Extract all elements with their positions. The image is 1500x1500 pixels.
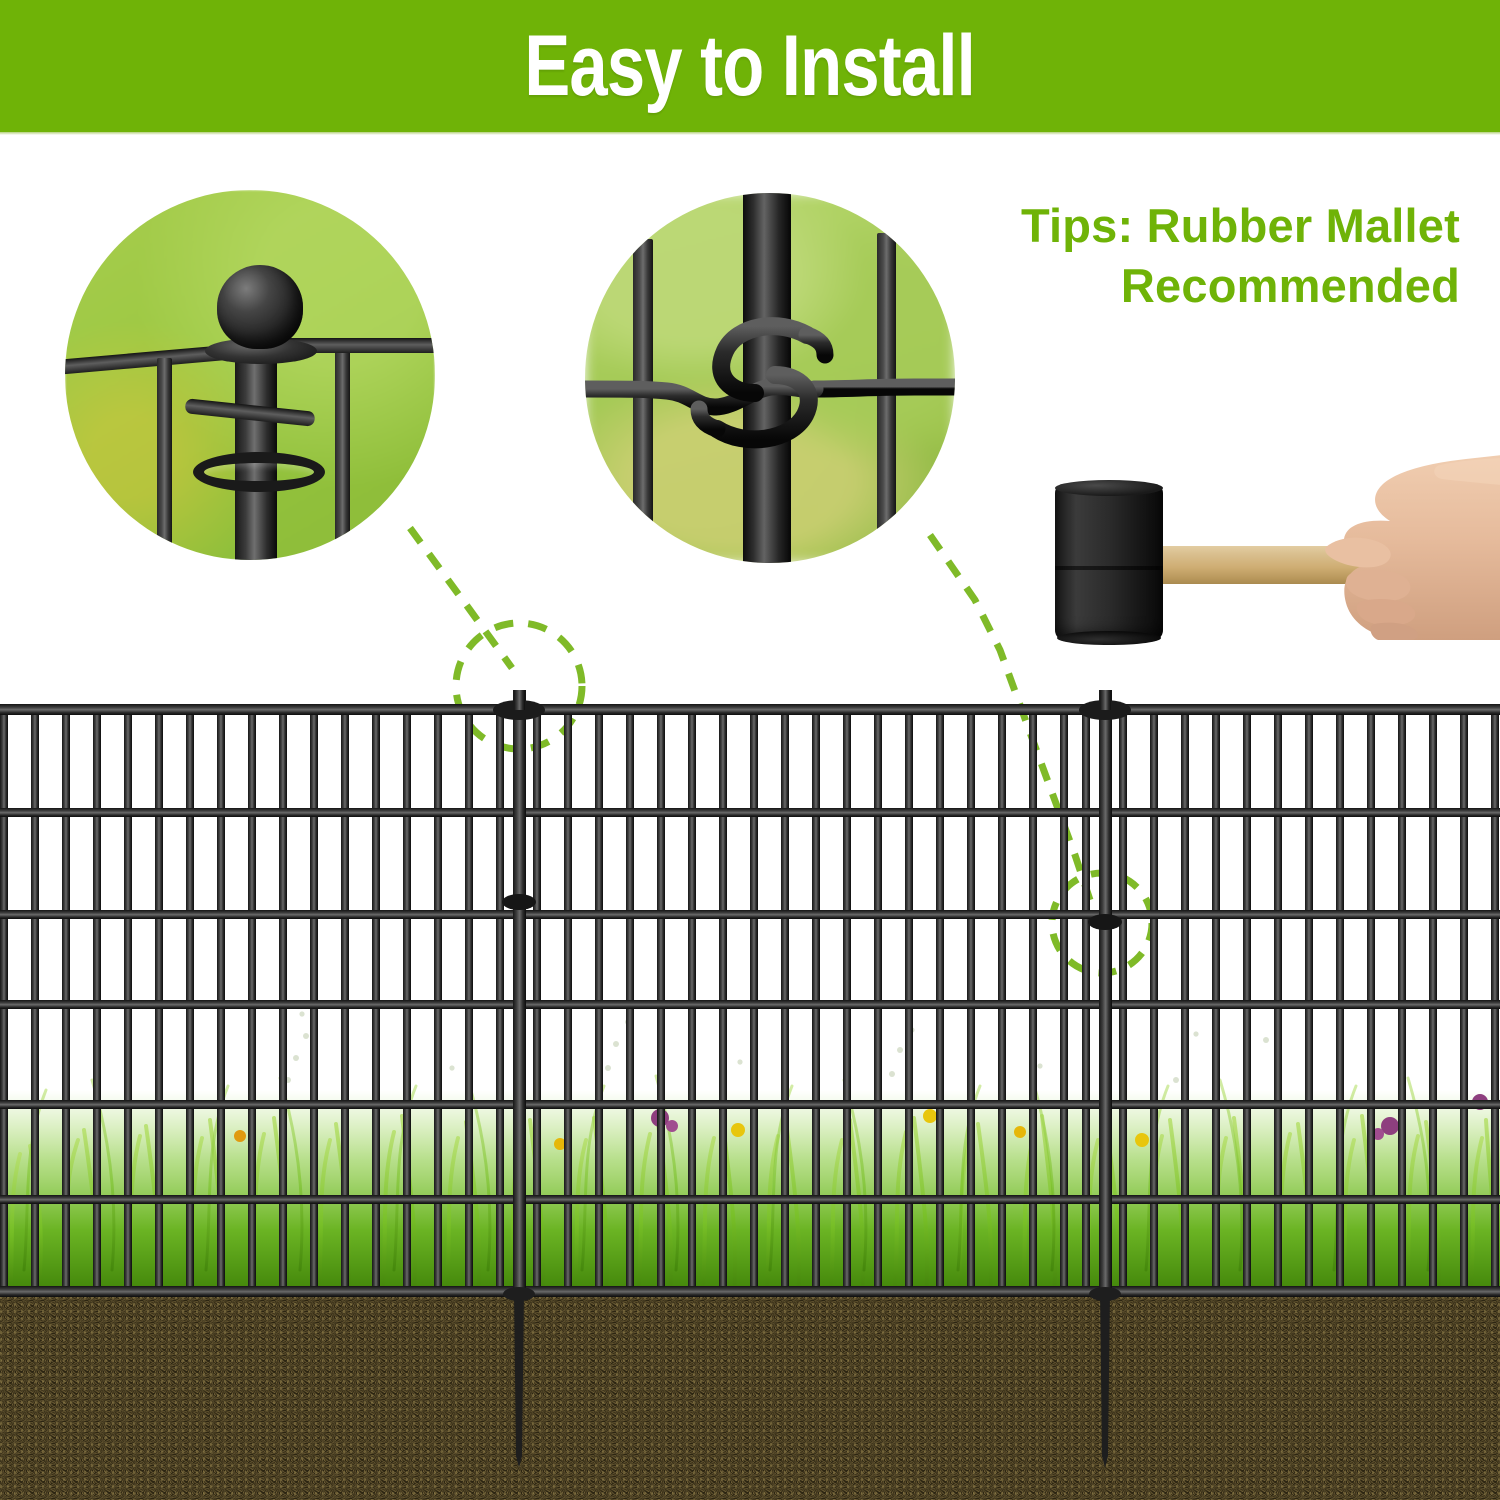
- mallet-head-top-face: [1055, 480, 1163, 496]
- ground-stakes: [0, 1286, 1500, 1500]
- banner-bottom-edge: [0, 132, 1500, 135]
- ball-finial-icon: [217, 265, 303, 349]
- hand-icon: [1290, 455, 1500, 640]
- callout-circle-interlock-hook: [585, 193, 955, 563]
- header-banner: Easy to Install: [0, 0, 1500, 132]
- mallet-head: [1055, 484, 1163, 641]
- mallet-head-bottom-face: [1057, 631, 1161, 645]
- finial-ring-clamp: [193, 452, 325, 492]
- finial-vertical-bar-right: [335, 340, 350, 560]
- tips-line-1: Tips: Rubber Mallet: [940, 196, 1460, 256]
- interlock-hook-icon: [585, 193, 955, 563]
- callout-circle-ball-finial: [65, 190, 435, 560]
- mallet-head-band: [1055, 566, 1163, 570]
- product-marketing-image: Easy to Install Tips: Rubber Mallet Reco…: [0, 0, 1500, 1500]
- page-title: Easy to Install: [525, 23, 976, 109]
- ground-scene: [0, 690, 1500, 1500]
- fence-panels: [0, 690, 1500, 1390]
- finial-vertical-bar-left: [157, 358, 172, 560]
- tips-text: Tips: Rubber Mallet Recommended: [940, 196, 1460, 316]
- tips-line-2: Recommended: [940, 256, 1460, 316]
